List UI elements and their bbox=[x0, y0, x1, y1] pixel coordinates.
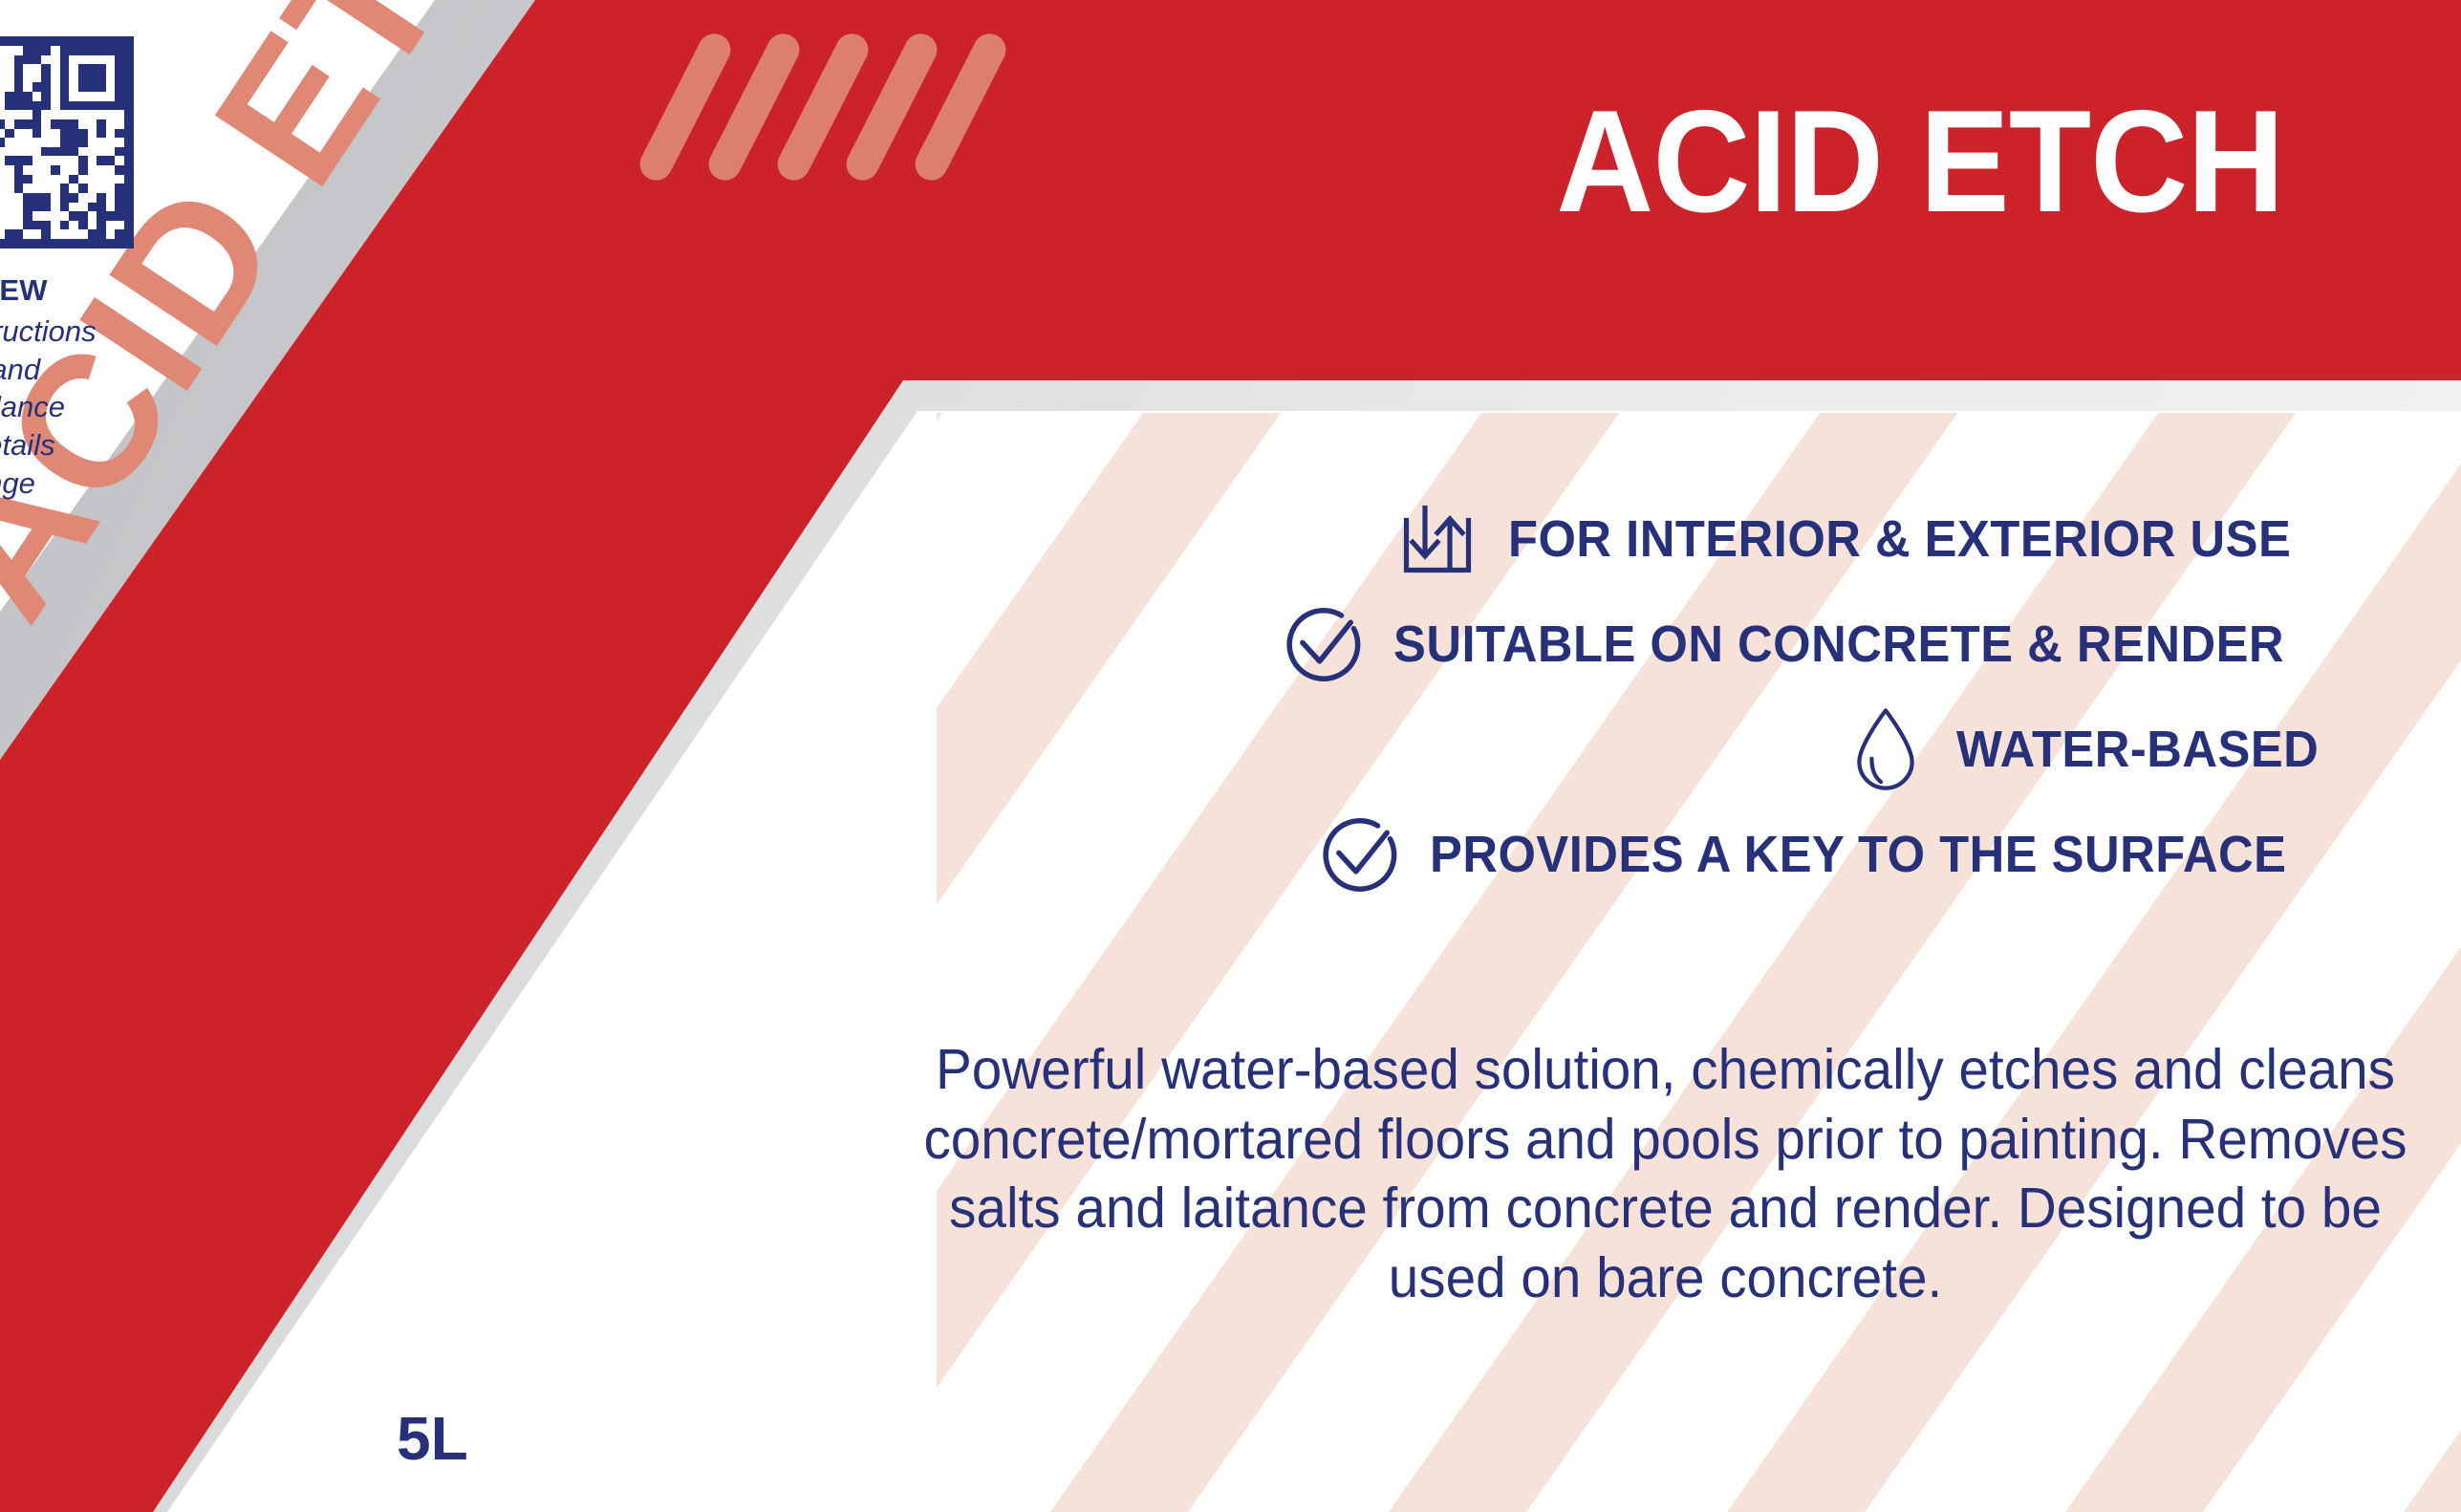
feature-row-water-based: WATER-BASED bbox=[1004, 700, 2342, 799]
feature-label: PROVIDES A KEY TO THE SURFACE bbox=[1430, 825, 2286, 884]
qr-line: uct details bbox=[0, 426, 134, 464]
water-droplet-icon bbox=[1836, 700, 1935, 799]
feature-row-interior-exterior: FOR INTERIOR & EXTERIOR USE bbox=[1004, 489, 2342, 589]
qr-heading: TO VIEW bbox=[0, 273, 134, 308]
feature-label: SUITABLE ON CONCRETE & RENDER bbox=[1393, 615, 2284, 674]
feature-list: FOR INTERIOR & EXTERIOR USE SUITABLE ON … bbox=[1004, 489, 2342, 910]
feature-row-provides-key: PROVIDES A KEY TO THE SURFACE bbox=[1004, 805, 2342, 904]
qr-code-icon[interactable] bbox=[0, 36, 134, 248]
qr-line: nical and bbox=[0, 351, 134, 389]
volume-label: 5L bbox=[397, 1403, 468, 1474]
qr-line: e instructions bbox=[0, 313, 134, 351]
interior-exterior-arrows-icon bbox=[1388, 489, 1487, 589]
check-circle-icon bbox=[1273, 594, 1372, 694]
qr-line: y guidance bbox=[0, 388, 134, 426]
qr-line: ull range bbox=[0, 464, 134, 503]
product-label: ACID ETCH TO VIEW e instructions nical a… bbox=[0, 0, 2461, 1512]
feature-label: WATER-BASED bbox=[1956, 720, 2319, 779]
qr-matrix bbox=[0, 46, 124, 239]
qr-line-list: e instructions nical and y guidance uct … bbox=[0, 313, 134, 502]
product-title: ACID ETCH bbox=[1557, 78, 2284, 246]
check-circle-icon bbox=[1309, 805, 1409, 904]
feature-label: FOR INTERIOR & EXTERIOR USE bbox=[1508, 509, 2291, 569]
product-description: Powerful water-based solution, chemicall… bbox=[920, 1035, 2411, 1312]
feature-row-suitable-surfaces: SUITABLE ON CONCRETE & RENDER bbox=[1004, 594, 2342, 694]
qr-block: TO VIEW e instructions nical and y guida… bbox=[0, 36, 134, 502]
